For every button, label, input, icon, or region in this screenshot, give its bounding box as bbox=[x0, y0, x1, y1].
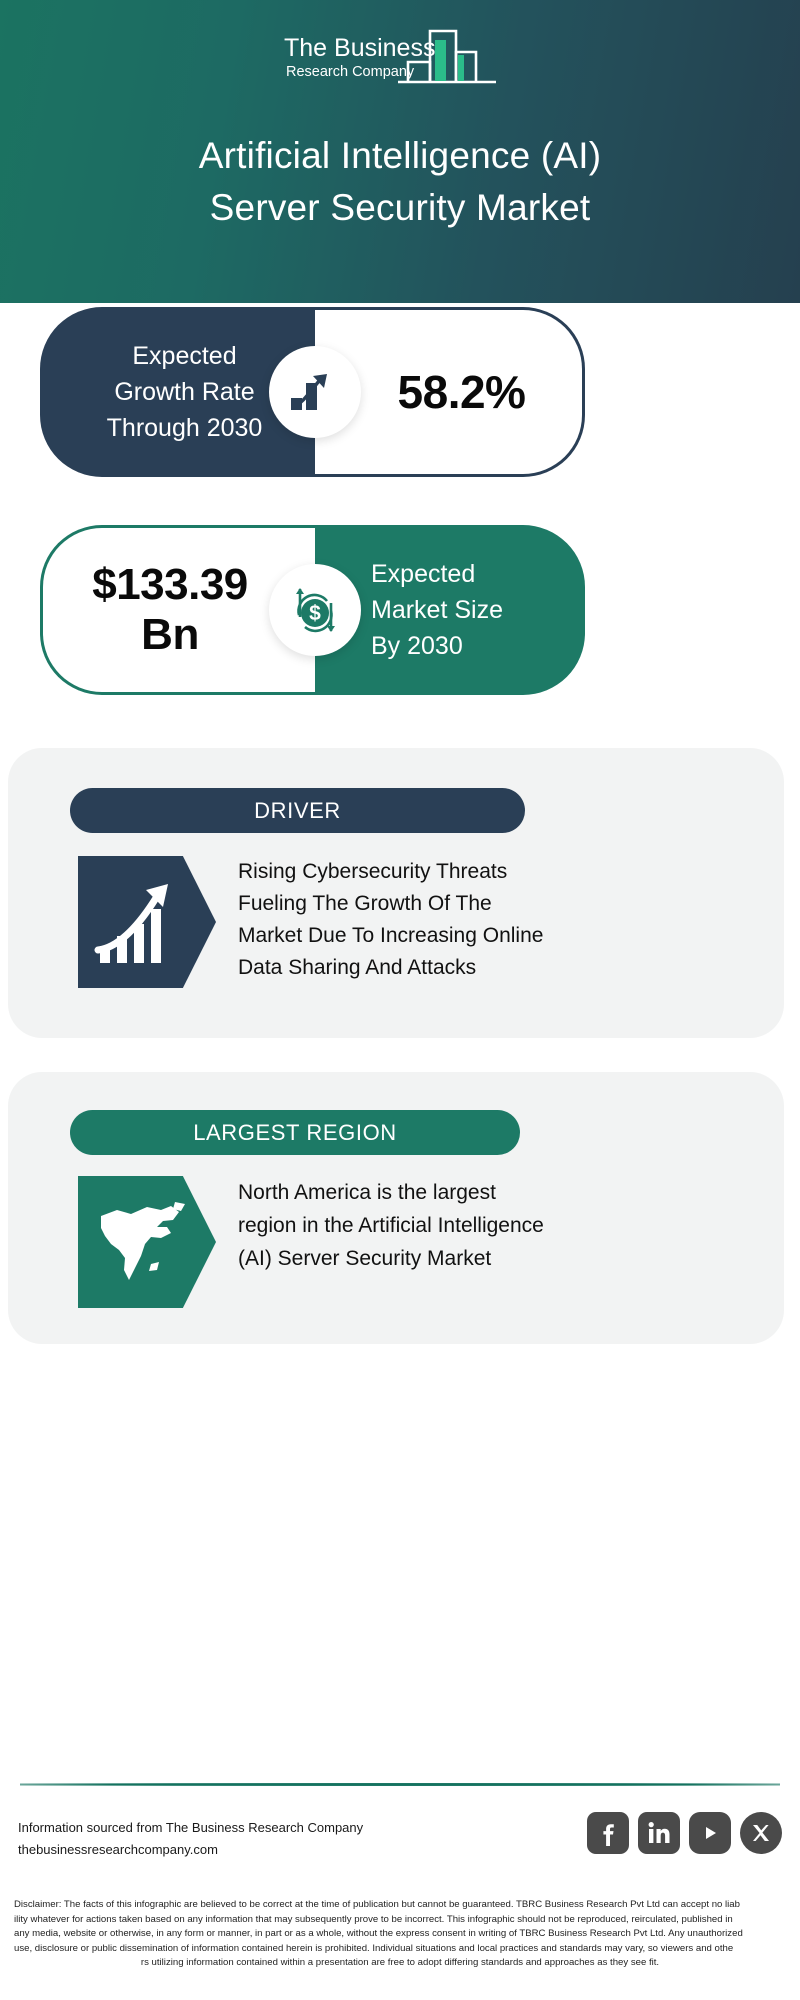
market-size-value-line1: $133.39 bbox=[92, 560, 248, 610]
stat-card-market-size: $133.39 Bn Expected Market Size By 2030 … bbox=[40, 525, 585, 695]
logo-line1: The Business bbox=[284, 34, 435, 62]
growth-label-line3: Through 2030 bbox=[107, 410, 263, 446]
dollar-circular-arrows-icon: $ bbox=[269, 564, 361, 656]
logo-bar-green-2 bbox=[458, 55, 464, 81]
footer-source-url[interactable]: thebusinessresearchcompany.com bbox=[18, 1839, 363, 1861]
stat-card-growth-rate-label: Expected Growth Rate Through 2030 bbox=[93, 338, 263, 446]
social-links bbox=[587, 1812, 782, 1854]
market-size-label-line3: By 2030 bbox=[371, 628, 585, 664]
largest-region-panel: LARGEST REGION North America is the larg… bbox=[8, 1072, 784, 1344]
disclaimer-line-5: rs utilizing information contained withi… bbox=[14, 1956, 786, 1971]
facebook-icon[interactable] bbox=[587, 1812, 629, 1854]
tbrc-logo: The Business Research Company bbox=[280, 22, 520, 94]
footer-divider bbox=[20, 1783, 780, 1786]
stat-cards-band: Expected Growth Rate Through 2030 58.2% … bbox=[0, 303, 800, 753]
market-size-value-line2: Bn bbox=[92, 610, 248, 660]
x-twitter-icon[interactable] bbox=[740, 1812, 782, 1854]
driver-content-row: Rising Cybersecurity Threats Fueling The… bbox=[78, 856, 556, 988]
stat-card-growth-rate-value: 58.2% bbox=[372, 365, 526, 419]
stat-card-growth-rate: Expected Growth Rate Through 2030 58.2% bbox=[40, 307, 585, 477]
largest-region-pill-label: LARGEST REGION bbox=[193, 1120, 397, 1146]
growth-chart-arrow-icon bbox=[269, 346, 361, 438]
logo-line2: Research Company bbox=[286, 64, 415, 80]
largest-region-pill: LARGEST REGION bbox=[70, 1110, 520, 1155]
page-title-line1: Artificial Intelligence (AI) bbox=[70, 130, 730, 182]
driver-pill: DRIVER bbox=[70, 788, 525, 833]
svg-text:$: $ bbox=[309, 602, 321, 625]
disclaimer-line-2: ility whatever for actions taken based o… bbox=[14, 1913, 786, 1928]
market-size-label-line2: Market Size bbox=[371, 592, 585, 628]
footer-source-line1: Information sourced from The Business Re… bbox=[18, 1817, 363, 1839]
growth-label-line1: Expected bbox=[107, 338, 263, 374]
driver-body-text: Rising Cybersecurity Threats Fueling The… bbox=[238, 856, 556, 984]
largest-region-content-row: North America is the largest region in t… bbox=[78, 1176, 556, 1308]
driver-pill-label: DRIVER bbox=[254, 798, 341, 824]
logo-bar-green-1 bbox=[435, 40, 446, 81]
growth-label-line2: Growth Rate bbox=[107, 374, 263, 410]
north-america-map-icon bbox=[78, 1176, 216, 1308]
rising-bar-chart-arrow-icon bbox=[78, 856, 216, 988]
market-size-label-line1: Expected bbox=[371, 556, 585, 592]
disclaimer-line-4: use, disclosure or public dissemination … bbox=[14, 1942, 786, 1957]
logo-wrap: The Business Research Company bbox=[0, 22, 800, 94]
disclaimer-line-3: any media, website or otherwise, in any … bbox=[14, 1927, 786, 1942]
stat-card-market-size-value: $133.39 Bn bbox=[92, 560, 266, 660]
page-title: Artificial Intelligence (AI) Server Secu… bbox=[0, 130, 800, 234]
disclaimer-line-1: Disclaimer: The facts of this infographi… bbox=[14, 1898, 786, 1913]
largest-region-body-text: North America is the largest region in t… bbox=[238, 1176, 556, 1275]
linkedin-icon[interactable] bbox=[638, 1812, 680, 1854]
footer-source: Information sourced from The Business Re… bbox=[18, 1817, 363, 1861]
youtube-icon[interactable] bbox=[689, 1812, 731, 1854]
page-title-line2: Server Security Market bbox=[70, 182, 730, 234]
disclaimer-text: Disclaimer: The facts of this infographi… bbox=[14, 1898, 786, 1971]
driver-panel: DRIVER Rising Cybersecurity Threats Fuel… bbox=[8, 748, 784, 1038]
header-banner: The Business Research Company Artificial… bbox=[0, 0, 800, 303]
